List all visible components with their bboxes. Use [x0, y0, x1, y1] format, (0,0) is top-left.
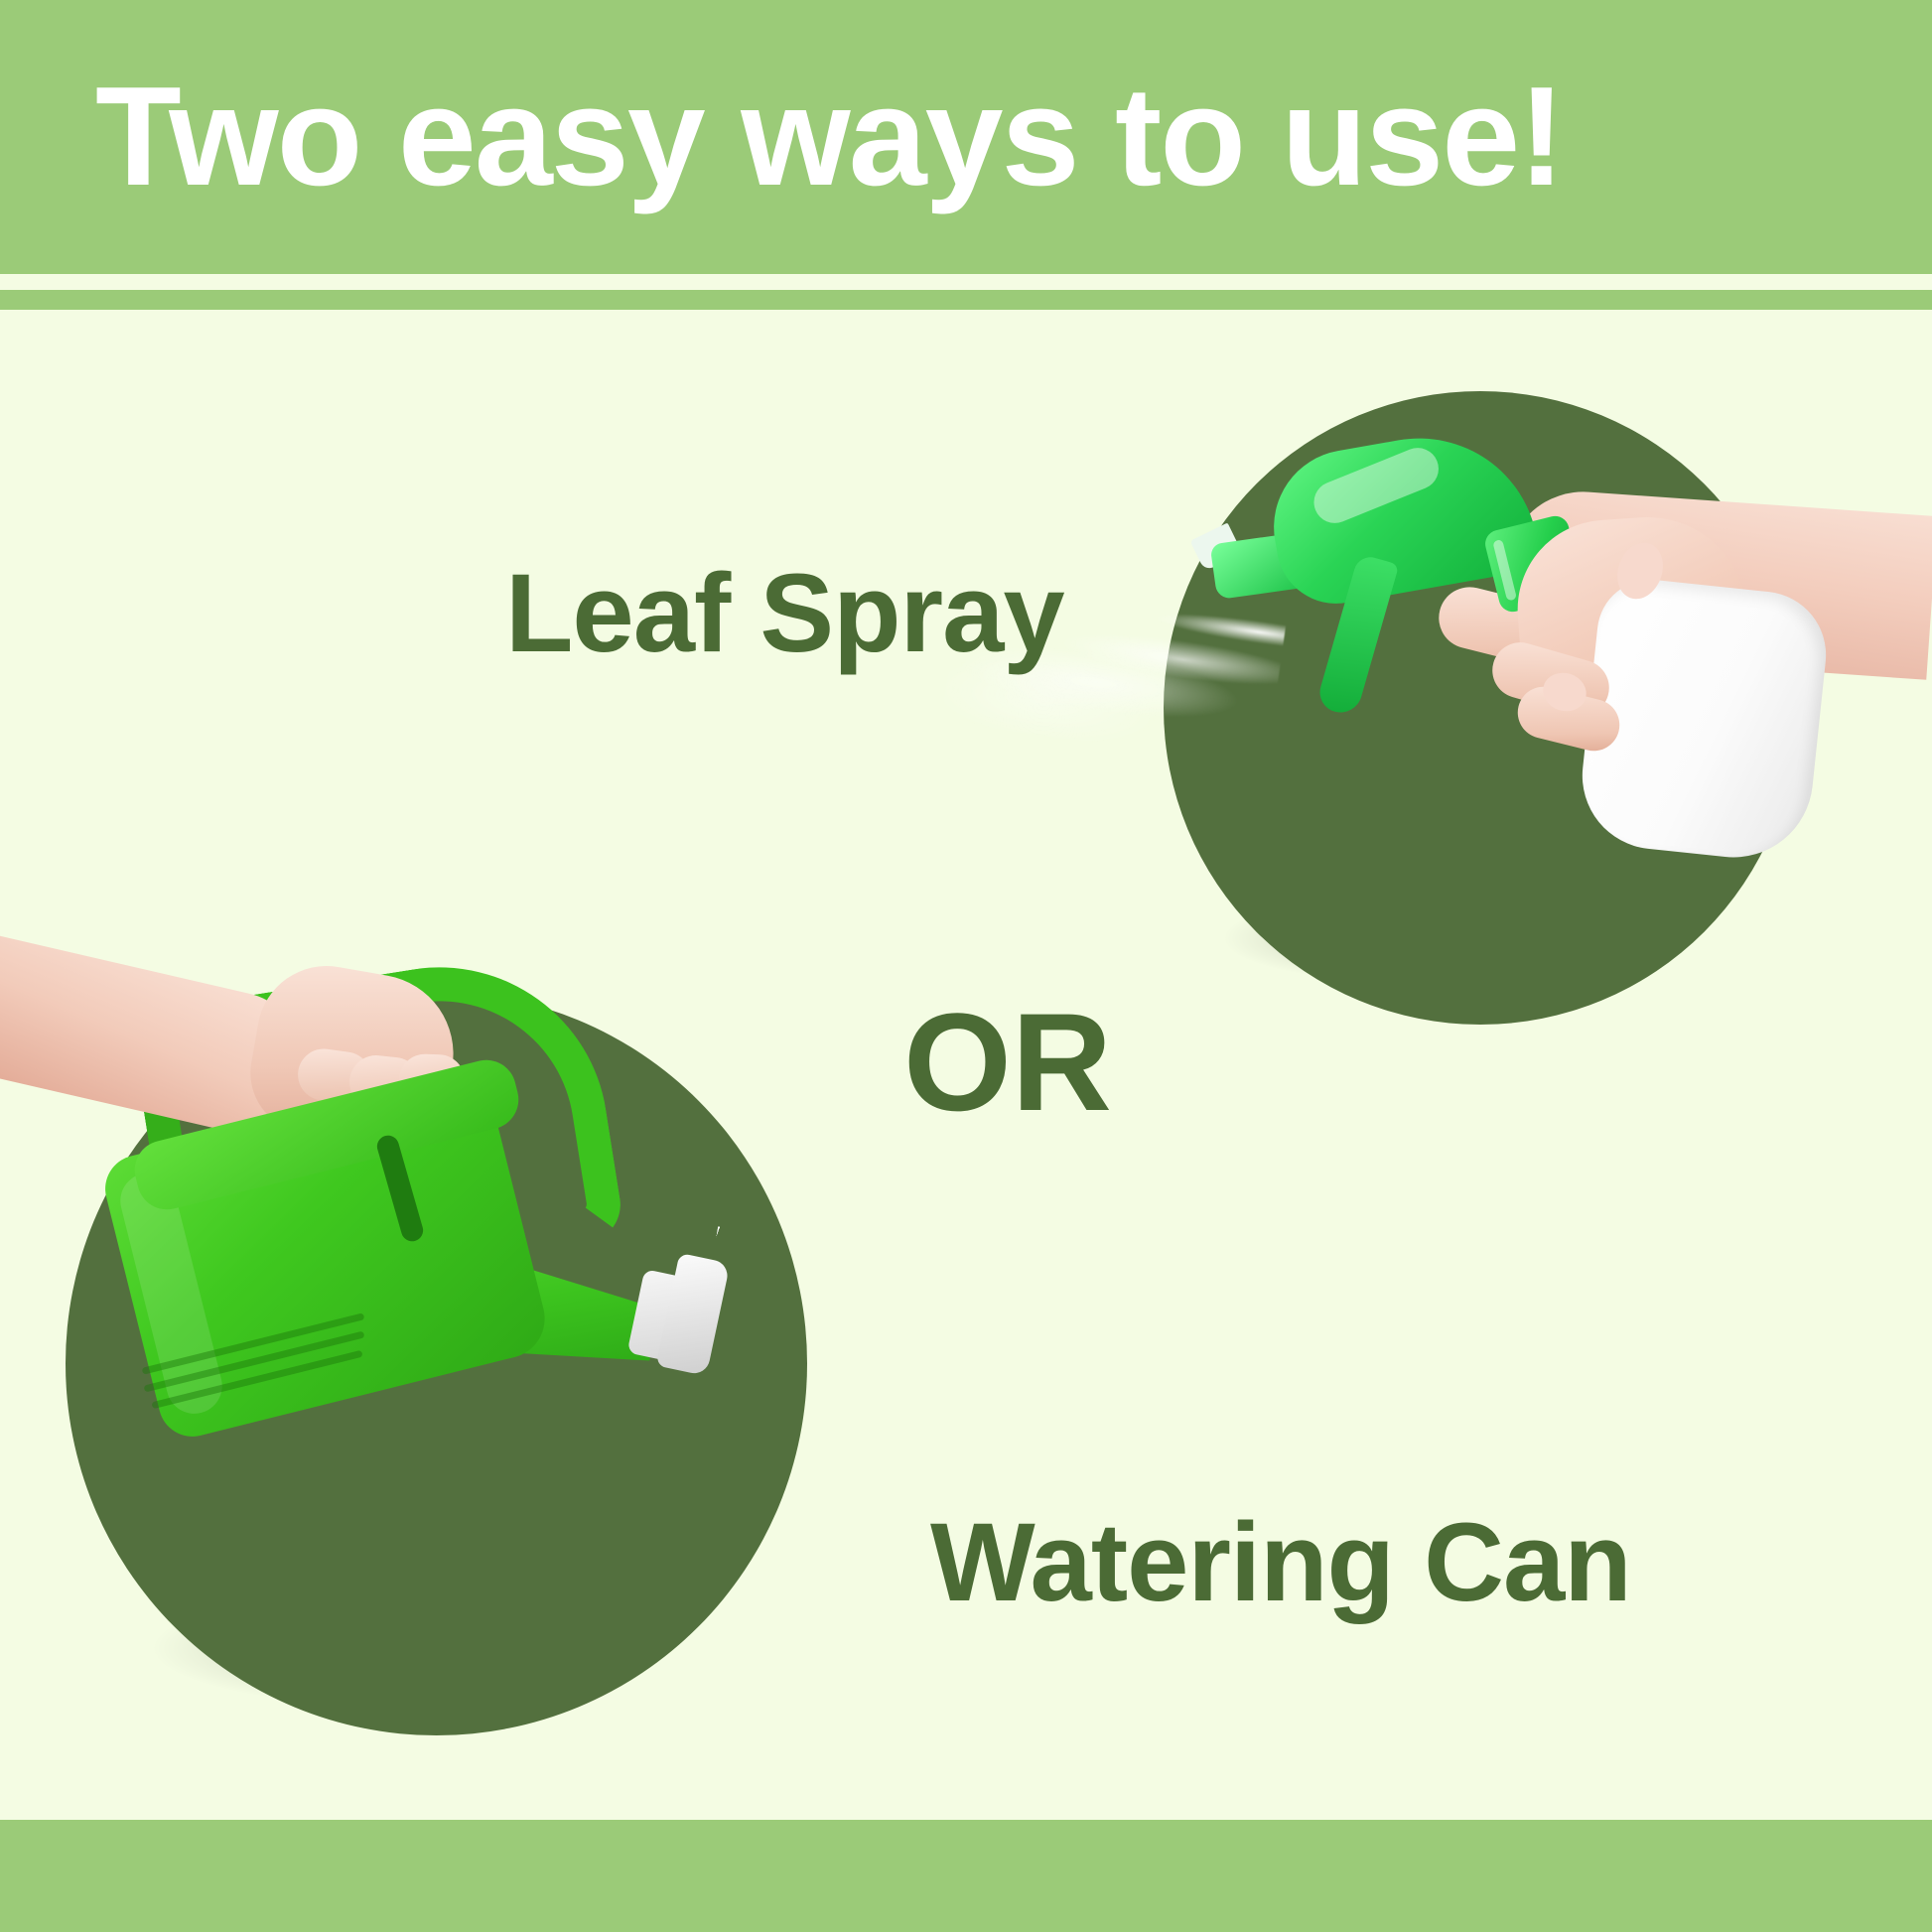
- infographic-canvas: Two easy ways to use! Leaf Spray OR: [0, 0, 1932, 1932]
- page-title: Two easy ways to use!: [95, 67, 1563, 207]
- watering-rose-head-icon: [656, 1253, 731, 1376]
- header-accent-stripe: [0, 290, 1932, 310]
- watering-can-icon: [0, 923, 1052, 1440]
- spray-bottle-icon: [1122, 427, 1932, 943]
- leaf-spray-label: Leaf Spray: [505, 558, 1064, 669]
- watering-can-label: Watering Can: [930, 1507, 1631, 1618]
- footer-band: [0, 1820, 1932, 1932]
- header-band: Two easy ways to use!: [0, 0, 1932, 274]
